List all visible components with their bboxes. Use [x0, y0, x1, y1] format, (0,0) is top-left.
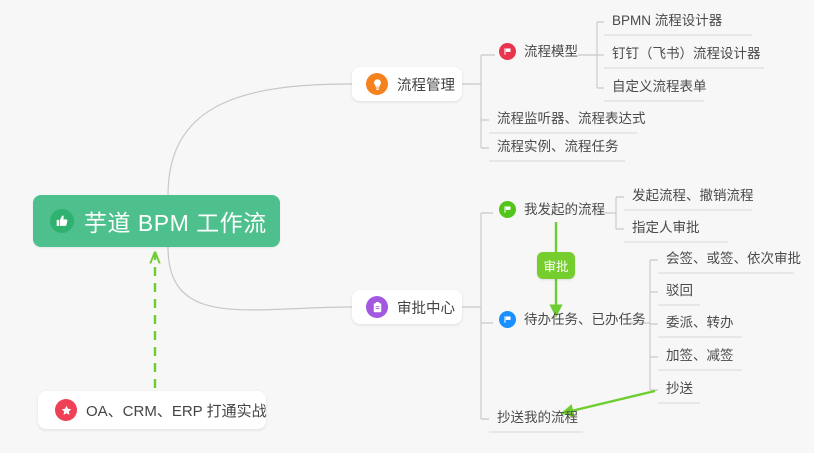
leaf-cc[interactable]: 抄送 — [658, 380, 701, 402]
leaf-label: 流程模型 — [524, 43, 578, 60]
leaf-dingtalk-designer[interactable]: 钉钉（飞书）流程设计器 — [604, 45, 769, 67]
leaf-assignee-approve[interactable]: 指定人审批 — [624, 219, 708, 241]
branch-label-process-mgmt: 流程管理 — [397, 74, 455, 95]
node-oa-crm-erp[interactable]: OA、CRM、ERP 打通实战 — [38, 391, 266, 429]
branch-label-approve-center: 审批中心 — [397, 297, 455, 318]
leaf-reject[interactable]: 驳回 — [658, 282, 701, 304]
leaf-label: 待办任务、已办任务 — [524, 311, 646, 328]
leaf-listener-expression[interactable]: 流程监听器、流程表达式 — [489, 110, 654, 132]
branch-node-process-mgmt[interactable]: 流程管理 — [352, 67, 462, 101]
branch-node-approve-center[interactable]: 审批中心 — [352, 290, 462, 324]
root-label: 芋道 BPM 工作流 — [84, 204, 267, 238]
leaf-bpmn-designer[interactable]: BPMN 流程设计器 — [604, 12, 730, 34]
leaf-countersign[interactable]: 会签、或签、依次审批 — [658, 250, 809, 272]
flag-icon — [499, 311, 516, 328]
flag-icon — [499, 43, 516, 60]
leaf-label: 我发起的流程 — [524, 201, 605, 218]
clipboard-icon — [366, 296, 388, 318]
leaf-instance-task[interactable]: 流程实例、流程任务 — [489, 138, 627, 160]
root-node[interactable]: 芋道 BPM 工作流 — [33, 195, 280, 247]
leaf-todo-done[interactable]: 待办任务、已办任务 — [491, 311, 654, 333]
mindmap-canvas: 芋道 BPM 工作流 流程管理 流程模型 BPMN 流程设计器 钉钉（飞书）流程… — [0, 0, 814, 453]
leaf-start-cancel-process[interactable]: 发起流程、撤销流程 — [624, 187, 762, 209]
annotation-label-approve: 审批 — [537, 252, 575, 279]
leaf-process-model[interactable]: 流程模型 — [491, 43, 586, 65]
thumbs-up-icon — [50, 209, 74, 233]
leaf-add-remove-sign[interactable]: 加签、减签 — [658, 347, 742, 369]
leaf-cc-to-me[interactable]: 抄送我的流程 — [489, 409, 586, 431]
star-icon — [55, 399, 77, 421]
leaf-delegate-transfer[interactable]: 委派、转办 — [658, 314, 742, 336]
leaf-custom-form[interactable]: 自定义流程表单 — [604, 78, 715, 100]
leaf-my-started[interactable]: 我发起的流程 — [491, 201, 613, 223]
node-label-oa-crm-erp: OA、CRM、ERP 打通实战 — [86, 400, 267, 421]
lightbulb-icon — [366, 73, 388, 95]
flag-icon — [499, 201, 516, 218]
